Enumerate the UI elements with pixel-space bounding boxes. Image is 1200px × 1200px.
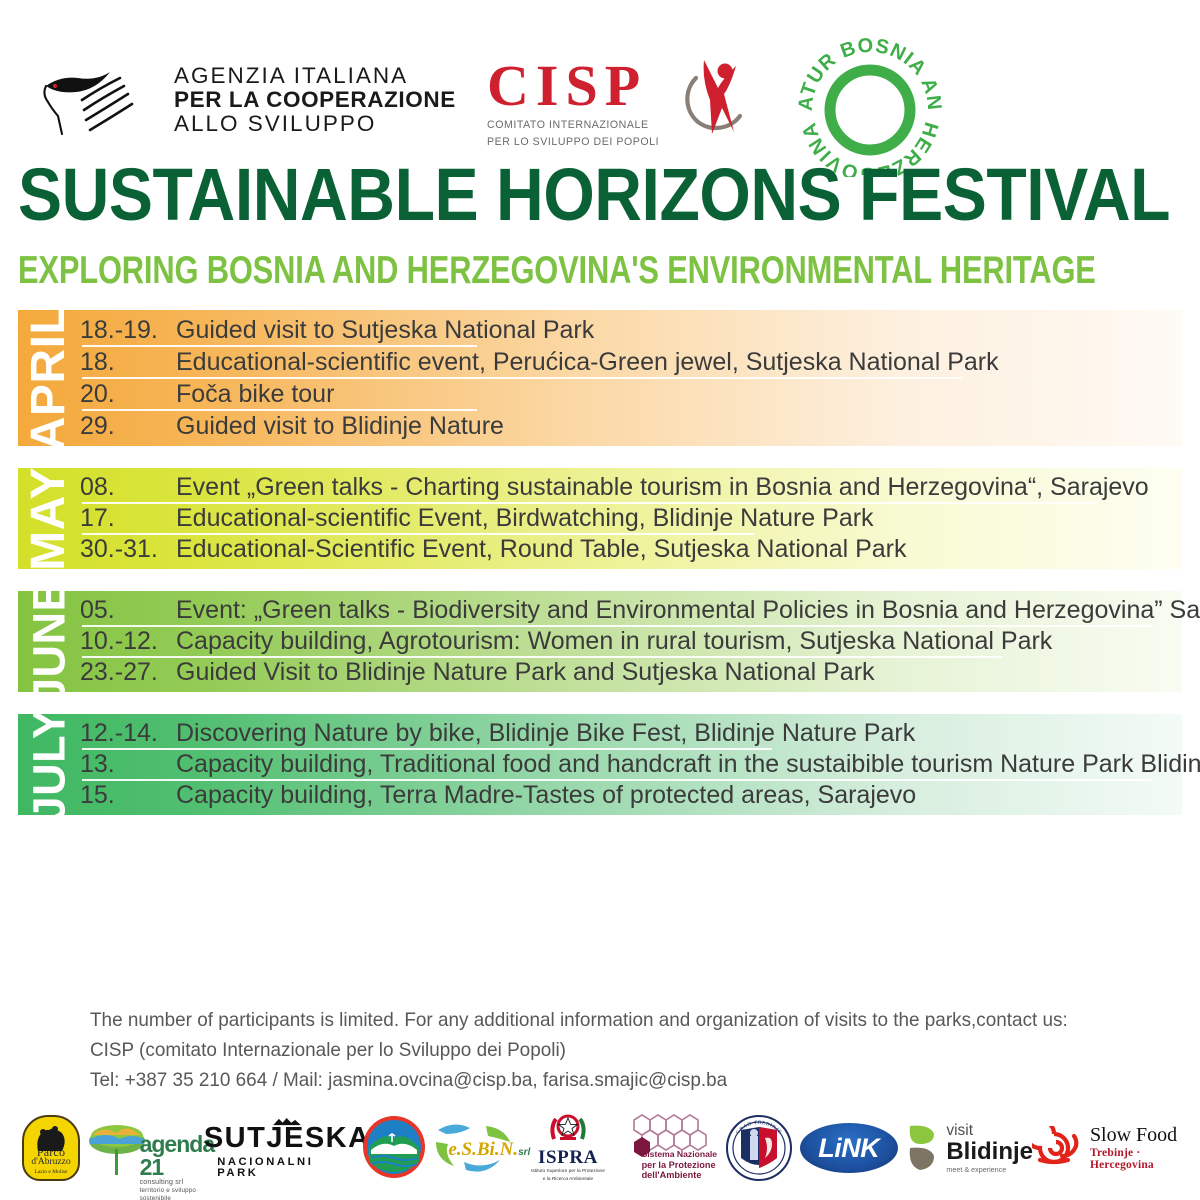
event-date: 30.-31. <box>80 537 176 562</box>
event-row[interactable]: 13.Capacity building, Traditional food a… <box>80 749 1200 780</box>
aics-line-3: ALLO SVILUPPO <box>174 112 456 136</box>
abruzzo-line-3: Lazio e Molise <box>35 1169 68 1175</box>
ispra-sub-2: e la Ricerca Ambientale <box>543 1177 593 1183</box>
event-description: Event „Green talks - Charting sustainabl… <box>176 475 1149 500</box>
event-date: 29. <box>80 414 176 439</box>
trebinje-seal-icon: GRAD TREBINJE <box>725 1114 793 1182</box>
note-line-1: The number of participants is limited. F… <box>90 1005 1118 1035</box>
sponsor-visit-blidinje: visit Blidinje meet & experience <box>904 1115 1028 1181</box>
abruzzo-line-2: d'Abruzzo <box>31 1158 70 1168</box>
event-date: 23.-27. <box>80 660 176 685</box>
sponsor-logo-strip: Parco d'Abruzzo Lazio e Molise agenda 21… <box>20 1102 1182 1194</box>
event-date: 18.-19. <box>80 318 176 343</box>
snail-icon <box>1032 1126 1086 1170</box>
event-row[interactable]: 18.Educational-scientific event, Perućic… <box>80 346 1182 378</box>
month-rows: 05.Event: „Green talks - Biodiversity an… <box>80 591 1200 692</box>
event-date: 13. <box>80 752 176 777</box>
event-row[interactable]: 08.Event „Green talks - Charting sustain… <box>80 472 1182 503</box>
sutjeska-name: SUTJESKA <box>204 1124 371 1153</box>
sponsor-snpa: Sistema Nazionale per la Protezione dell… <box>618 1112 722 1184</box>
month-label: JULY <box>27 708 72 821</box>
event-date: 15. <box>80 783 176 808</box>
sponsor-ispra: ISPRA Istituto Superiore per la Protezio… <box>522 1112 614 1184</box>
month-rows: 18.-19.Guided visit to Sutjeska National… <box>80 310 1182 446</box>
month-rows: 12.-14.Discovering Nature by bike, Blidi… <box>80 714 1200 815</box>
event-date: 20. <box>80 382 176 407</box>
event-description: Guided Visit to Blidinje Nature Park and… <box>176 660 875 685</box>
event-row[interactable]: 29.Guided visit to Blidinje Nature <box>80 410 1182 442</box>
event-date: 12.-14. <box>80 721 176 746</box>
dove-icon <box>38 64 158 136</box>
sponsor-grad-trebinje: GRAD TREBINJE <box>725 1114 793 1182</box>
event-date: 18. <box>80 350 176 375</box>
month-block-july: JULY12.-14.Discovering Nature by bike, B… <box>18 714 1182 815</box>
sutjeska-sub: NACIONALNI PARK <box>217 1157 357 1179</box>
visit-blidinje-tagline: meet & experience <box>946 1166 1033 1173</box>
event-row[interactable]: 23.-27.Guided Visit to Blidinje Nature P… <box>80 657 1200 688</box>
sponsor-park-prirode-blidinje <box>361 1114 427 1182</box>
event-row[interactable]: 12.-14.Discovering Nature by bike, Blidi… <box>80 718 1200 749</box>
event-description: Guided visit to Sutjeska National Park <box>176 318 594 343</box>
snpa-line-2: per la Protezione <box>642 1160 717 1171</box>
event-date: 10.-12. <box>80 629 176 654</box>
blidinje-roundel-icon <box>361 1114 427 1182</box>
event-description: Capacity building, Traditional food and … <box>176 752 1200 777</box>
event-row[interactable]: 20.Foča bike tour <box>80 378 1182 410</box>
month-tab-may: MAY <box>18 468 80 569</box>
event-row[interactable]: 30.-31.Educational-Scientific Event, Rou… <box>80 534 1182 565</box>
month-block-april: APRIL18.-19.Guided visit to Sutjeska Nat… <box>18 310 1182 446</box>
visit-blidinje-leaf-icon <box>904 1122 938 1174</box>
month-block-june: JUNE05.Event: „Green talks - Biodiversit… <box>18 591 1182 692</box>
ispra-sub-1: Istituto Superiore per la Protezione <box>531 1169 605 1175</box>
event-date: 17. <box>80 506 176 531</box>
aics-line-1: AGENZIA ITALIANA <box>174 64 456 88</box>
event-date: 08. <box>80 475 176 500</box>
festival-title: SUSTAINABLE HORIZONS FESTIVAL <box>18 160 1063 230</box>
event-description: Discovering Nature by bike, Blidinje Bik… <box>176 721 915 746</box>
sponsor-parco-abruzzo: Parco d'Abruzzo Lazio e Molise <box>20 1113 82 1183</box>
slow-food-name: Slow Food <box>1090 1125 1182 1145</box>
month-block-may: MAY08.Event „Green talks - Charting sust… <box>18 468 1182 569</box>
sponsor-agenda21: agenda 21 consulting srl territorio e sv… <box>86 1113 214 1183</box>
header-logo-row: AGENZIA ITALIANA PER LA COOPERAZIONE ALL… <box>0 22 1200 142</box>
event-description: Capacity building, Agrotourism: Women in… <box>176 629 1052 654</box>
note-line-3: Tel: +387 35 210 664 / Mail: jasmina.ovc… <box>90 1065 1118 1095</box>
event-description: Educational-scientific event, Perućica-G… <box>176 350 999 375</box>
event-row[interactable]: 15.Capacity building, Terra Madre-Tastes… <box>80 780 1200 811</box>
visit-blidinje-visit: visit <box>946 1123 1033 1139</box>
month-label: JUNE <box>27 580 72 702</box>
bear-icon <box>31 1125 71 1158</box>
event-row[interactable]: 17.Educational-scientific Event, Birdwat… <box>80 503 1182 534</box>
sponsor-esbin: e.S.Bi.N.srl <box>430 1116 518 1180</box>
esbin-name: e.S.Bi.N. <box>448 1139 518 1160</box>
schedule-list: APRIL18.-19.Guided visit to Sutjeska Nat… <box>18 310 1182 837</box>
event-date: 05. <box>80 598 176 623</box>
event-row[interactable]: 05.Event: „Green talks - Biodiversity an… <box>80 595 1200 626</box>
event-description: Educational-Scientific Event, Round Tabl… <box>176 537 907 562</box>
month-label: APRIL <box>25 305 73 452</box>
cisp-person-icon <box>678 54 758 140</box>
sponsor-slow-food: Slow Food Trebinje · Hercegovina <box>1032 1117 1182 1179</box>
poster-root: AGENZIA ITALIANA PER LA COOPERAZIONE ALL… <box>0 0 1200 1200</box>
month-label: MAY <box>25 467 73 571</box>
event-description: Event: „Green talks - Biodiversity and E… <box>176 598 1200 623</box>
snpa-line-1: Sistema Nazionale <box>642 1150 717 1160</box>
slow-food-sub: Trebinje · Hercegovina <box>1090 1148 1182 1171</box>
month-rows: 08.Event „Green talks - Charting sustain… <box>80 468 1182 569</box>
cisp-logo: CISP COMITATO INTERNAZIONALE PER LO SVIL… <box>487 58 757 148</box>
festival-subtitle: EXPLORING BOSNIA AND HERZEGOVINA'S ENVIR… <box>18 252 956 291</box>
month-tab-july: JULY <box>18 714 80 815</box>
sponsor-sutjeska-np: SUTJESKA NACIONALNI PARK <box>217 1117 357 1179</box>
italian-emblem-icon <box>546 1113 590 1145</box>
aics-wordmark: AGENZIA ITALIANA PER LA COOPERAZIONE ALL… <box>174 64 456 137</box>
agenda21-tree-icon <box>86 1115 148 1177</box>
aics-line-2: PER LA COOPERAZIONE <box>174 88 456 112</box>
ispra-name: ISPRA <box>538 1148 598 1167</box>
event-description: Guided visit to Blidinje Nature <box>176 414 504 439</box>
visit-blidinje-name: Blidinje <box>946 1139 1033 1164</box>
sponsor-link: LiNK <box>797 1120 901 1176</box>
participation-note: The number of participants is limited. F… <box>90 1005 1118 1095</box>
event-description: Educational-scientific Event, Birdwatchi… <box>176 506 874 531</box>
aics-logo: AGENZIA ITALIANA PER LA COOPERAZIONE ALL… <box>38 60 438 140</box>
snpa-line-3: dell'Ambiente <box>642 1170 717 1181</box>
event-row[interactable]: 18.-19.Guided visit to Sutjeska National… <box>80 314 1182 346</box>
note-line-2: CISP (comitato Internazionale per lo Svi… <box>90 1035 1118 1065</box>
event-row[interactable]: 10.-12.Capacity building, Agrotourism: W… <box>80 626 1200 657</box>
month-tab-april: APRIL <box>18 310 80 446</box>
agenda21-sub-1: consulting srl <box>140 1179 215 1187</box>
agenda21-sub-2: territorio e sviluppo sostenibile <box>140 1187 215 1200</box>
event-description: Capacity building, Terra Madre-Tastes of… <box>176 783 916 808</box>
link-name: LiNK <box>818 1133 879 1164</box>
month-tab-june: JUNE <box>18 591 80 692</box>
event-description: Foča bike tour <box>176 382 334 407</box>
